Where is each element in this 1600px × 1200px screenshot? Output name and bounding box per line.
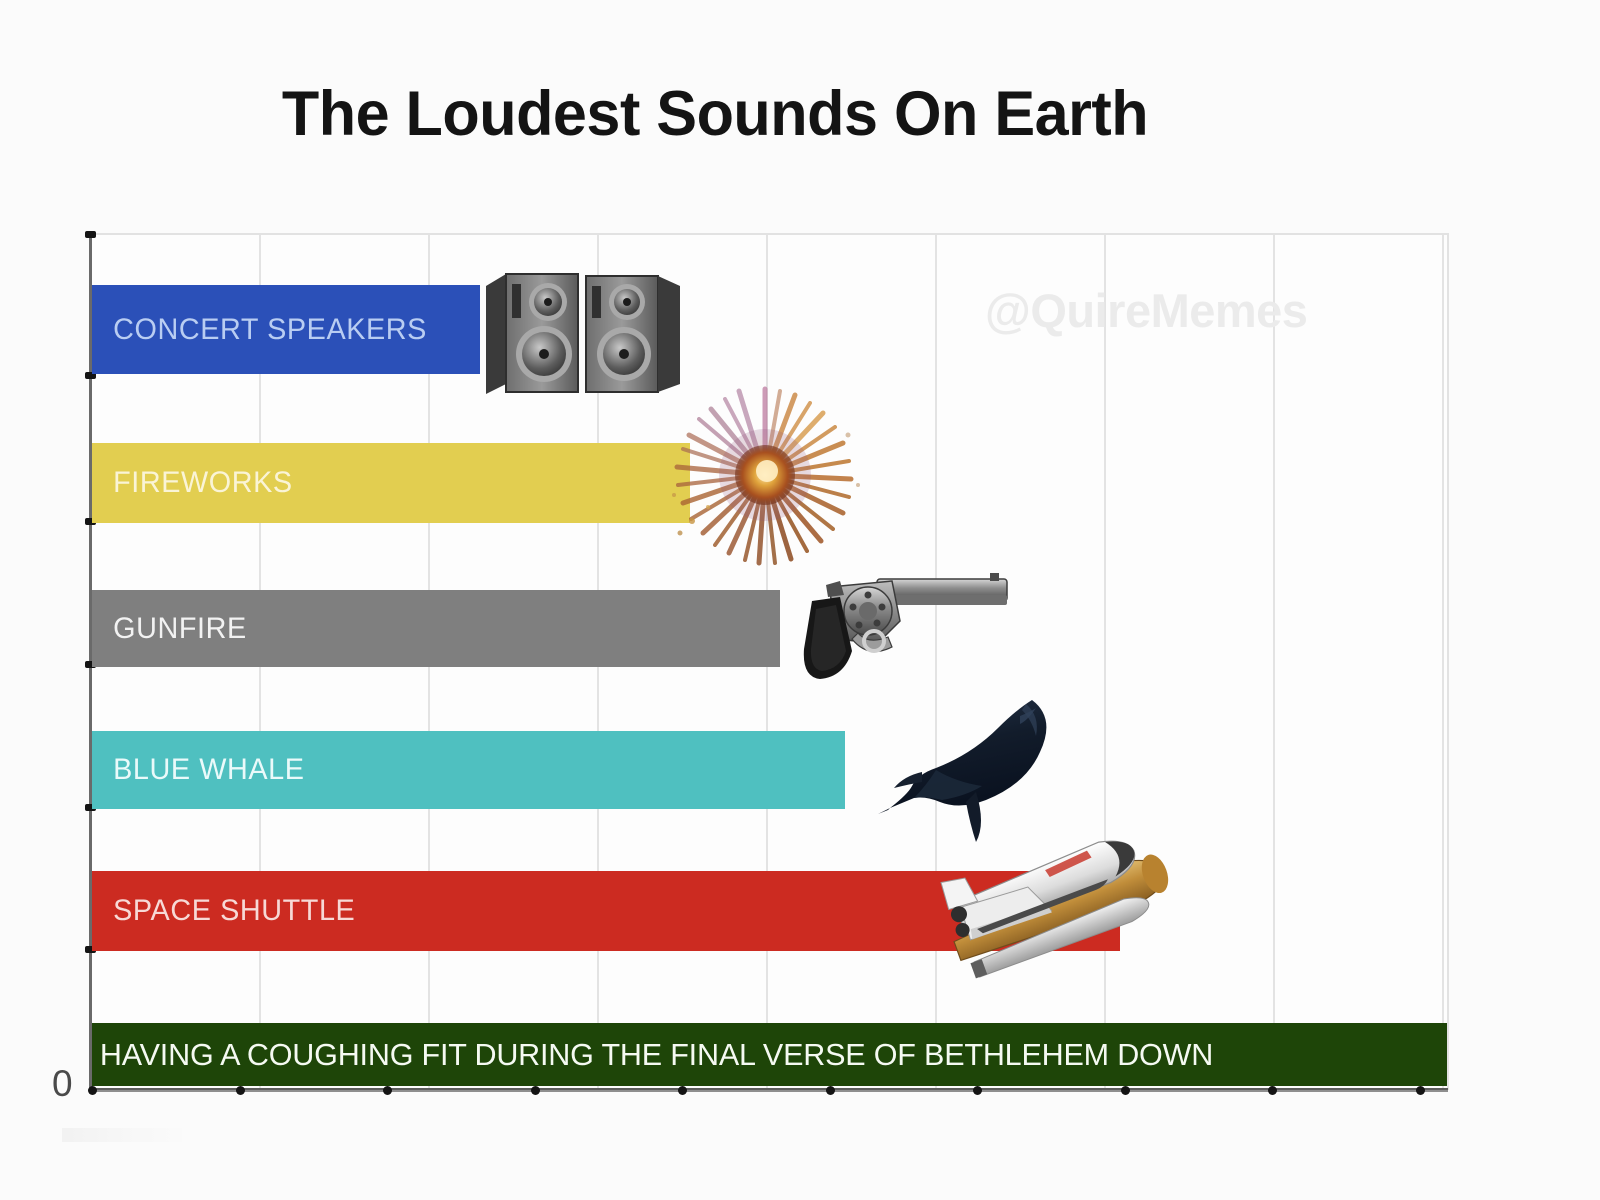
x-axis-tick [88, 1086, 97, 1095]
x-axis-tick [531, 1086, 540, 1095]
gridline-vertical [1273, 235, 1275, 1090]
x-axis-line [90, 1088, 1448, 1092]
bar-label: GUNFIRE [92, 612, 247, 646]
x-axis-tick [973, 1086, 982, 1095]
bar-label: HAVING A COUGHING FIT DURING THE FINAL V… [92, 1037, 1213, 1073]
bar-concert-speakers[interactable]: CONCERT SPEAKERS [92, 285, 480, 374]
chart-title: The Loudest Sounds On Earth [21, 78, 1408, 150]
bar-label: BLUE WHALE [92, 753, 305, 787]
x-axis-tick [1416, 1086, 1425, 1095]
x-axis-tick [1268, 1086, 1277, 1095]
revolver-icon [782, 565, 1017, 685]
bar-blue-whale[interactable]: BLUE WHALE [92, 731, 845, 809]
bar-gunfire[interactable]: GUNFIRE [92, 590, 780, 667]
bar-fireworks[interactable]: FIREWORKS [92, 443, 690, 523]
meme-image: The Loudest Sounds On Earth 0 @QuireMeme… [0, 0, 1600, 1200]
x-axis-tick [1121, 1086, 1130, 1095]
scan-artifact [62, 1128, 182, 1142]
watermark: @QuireMemes [985, 283, 1307, 338]
x-axis-tick [826, 1086, 835, 1095]
fireworks-icon [660, 375, 870, 570]
blue-whale-icon [860, 690, 1060, 850]
space-shuttle-icon [912, 840, 1197, 995]
x-axis-tick [236, 1086, 245, 1095]
y-axis-tick [85, 231, 96, 238]
gridline-vertical [1442, 235, 1444, 1090]
x-axis-origin-label: 0 [52, 1065, 73, 1102]
bar-coughing-fit[interactable]: HAVING A COUGHING FIT DURING THE FINAL V… [92, 1023, 1447, 1086]
x-axis-tick [678, 1086, 687, 1095]
bar-label: CONCERT SPEAKERS [92, 313, 427, 347]
x-axis-tick [383, 1086, 392, 1095]
bar-label: SPACE SHUTTLE [92, 894, 355, 928]
bar-label: FIREWORKS [92, 466, 293, 500]
